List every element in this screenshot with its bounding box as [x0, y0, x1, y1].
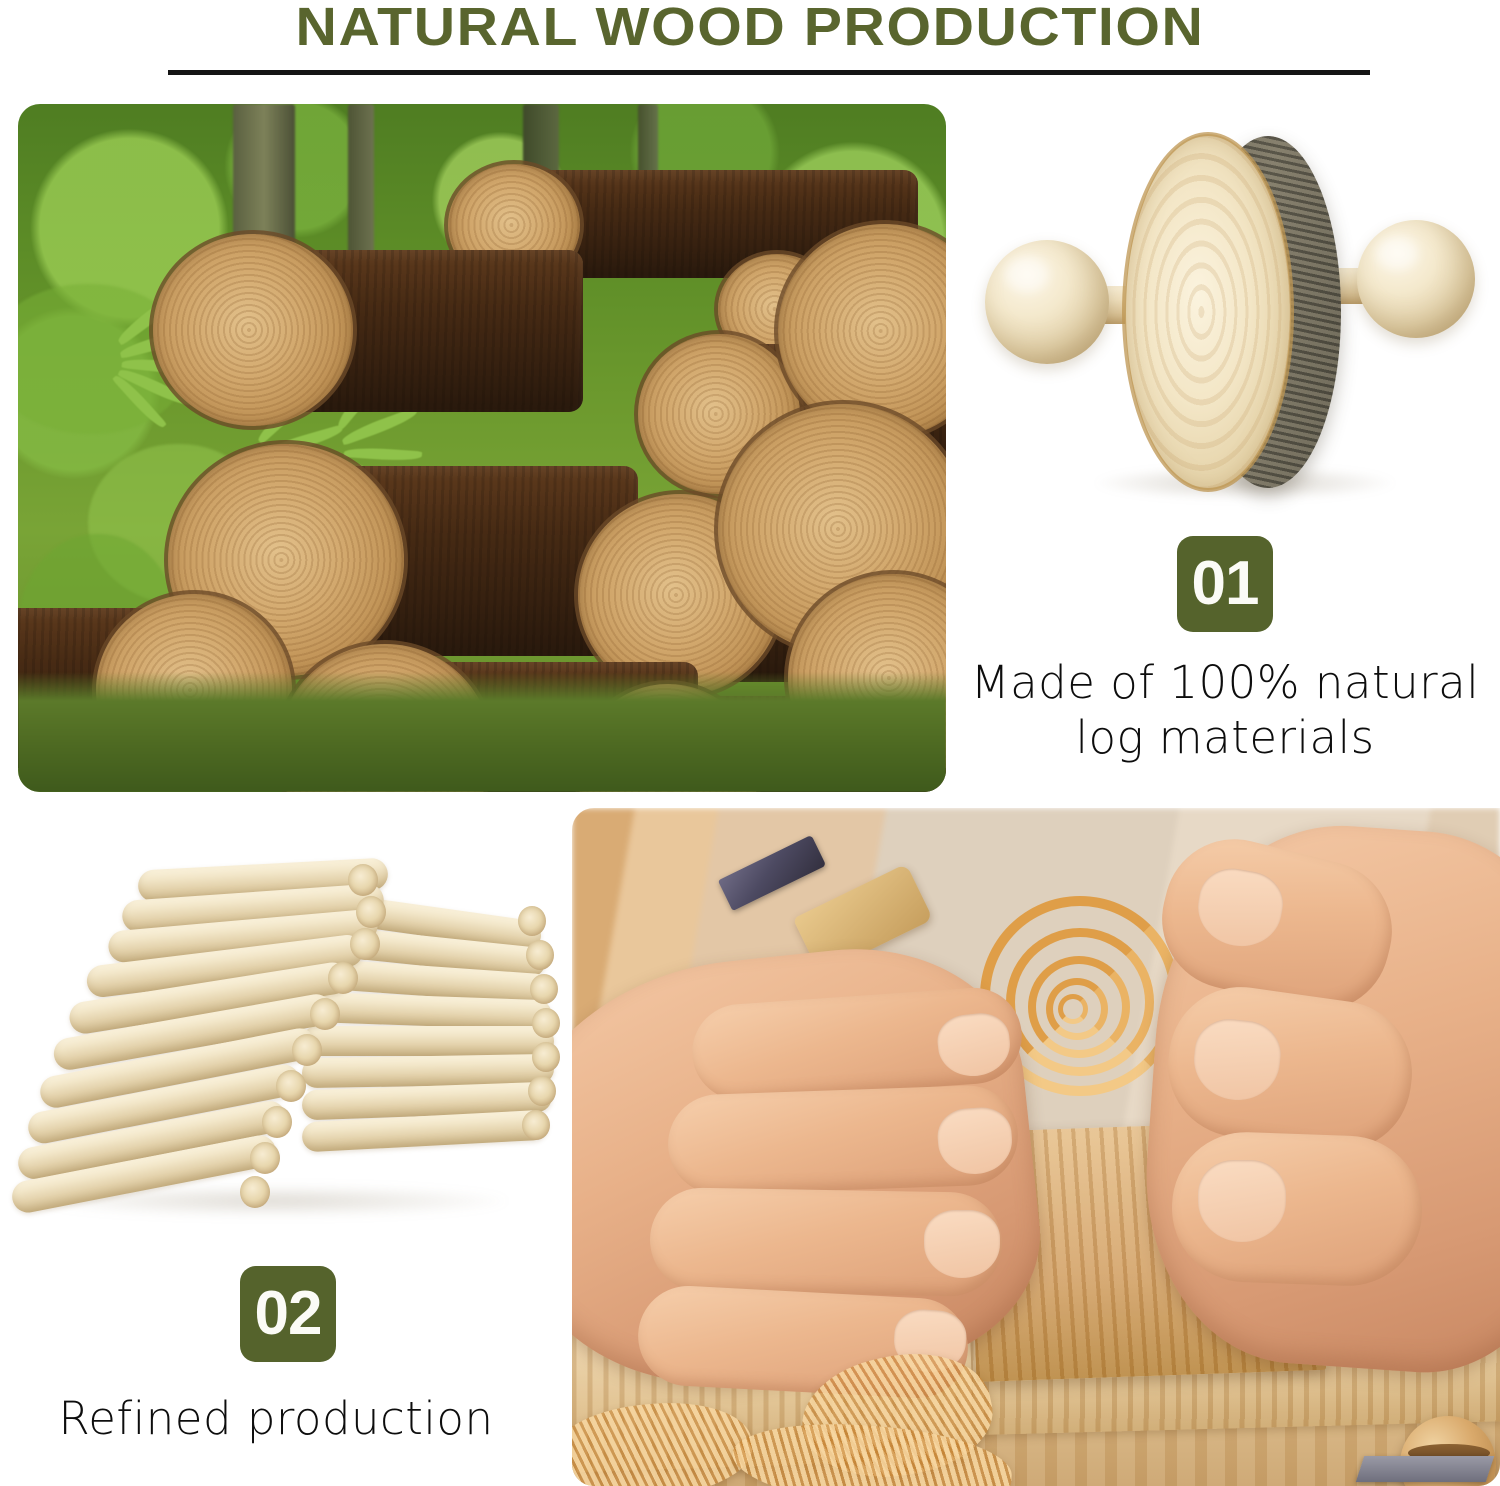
caption-line: log materials [950, 711, 1500, 766]
photo-carpenter-planing [572, 808, 1500, 1486]
forest-ground [18, 672, 946, 792]
title-divider [168, 70, 1370, 75]
feature-badge-01: 01 [1177, 536, 1273, 632]
dowel-end [518, 906, 546, 936]
dowel-end [522, 1110, 550, 1140]
log [153, 234, 573, 424]
wooden-ball-left [985, 240, 1109, 364]
slice-edge [1122, 132, 1294, 492]
dowel-stick [302, 1026, 554, 1056]
header: NATURAL WOOD PRODUCTION [0, 0, 1500, 92]
photo-log-pile [18, 104, 946, 792]
product-image-wood-bridge [10, 840, 570, 1240]
dowel-end [350, 928, 380, 960]
feature-caption-02: Refined production [6, 1392, 546, 1447]
dowel-end [528, 1076, 556, 1106]
dowel-end [292, 1034, 322, 1066]
dowel-end [348, 864, 378, 896]
dowel-end [276, 1070, 306, 1102]
dowel-end [310, 998, 340, 1030]
feature-caption-01: Made of 100% natural log materials [950, 656, 1500, 766]
product-image-dumbbell-toy [975, 128, 1475, 508]
fingernail [1198, 1160, 1286, 1242]
dowel-end [530, 974, 558, 1004]
caption-line: Refined production [6, 1392, 546, 1447]
dowel-end [532, 1008, 560, 1038]
feature-badge-02: 02 [240, 1266, 336, 1362]
dowel-end [240, 1176, 270, 1208]
caption-line: Made of 100% natural [950, 656, 1500, 711]
dowel-end [328, 962, 358, 994]
wooden-ball-right [1357, 220, 1475, 338]
dowel-end [356, 896, 386, 928]
page-title: NATURAL WOOD PRODUCTION [0, 0, 1500, 56]
dowel-end [250, 1142, 280, 1174]
dowel-end [532, 1042, 560, 1072]
dowel-end [526, 940, 554, 970]
infographic-page: NATURAL WOOD PRODUCTION [0, 0, 1500, 1486]
log-slice-wheel [1125, 134, 1343, 490]
fingernail [924, 1210, 1000, 1278]
dowel-end [262, 1106, 292, 1138]
plane-blade [1356, 1456, 1494, 1482]
